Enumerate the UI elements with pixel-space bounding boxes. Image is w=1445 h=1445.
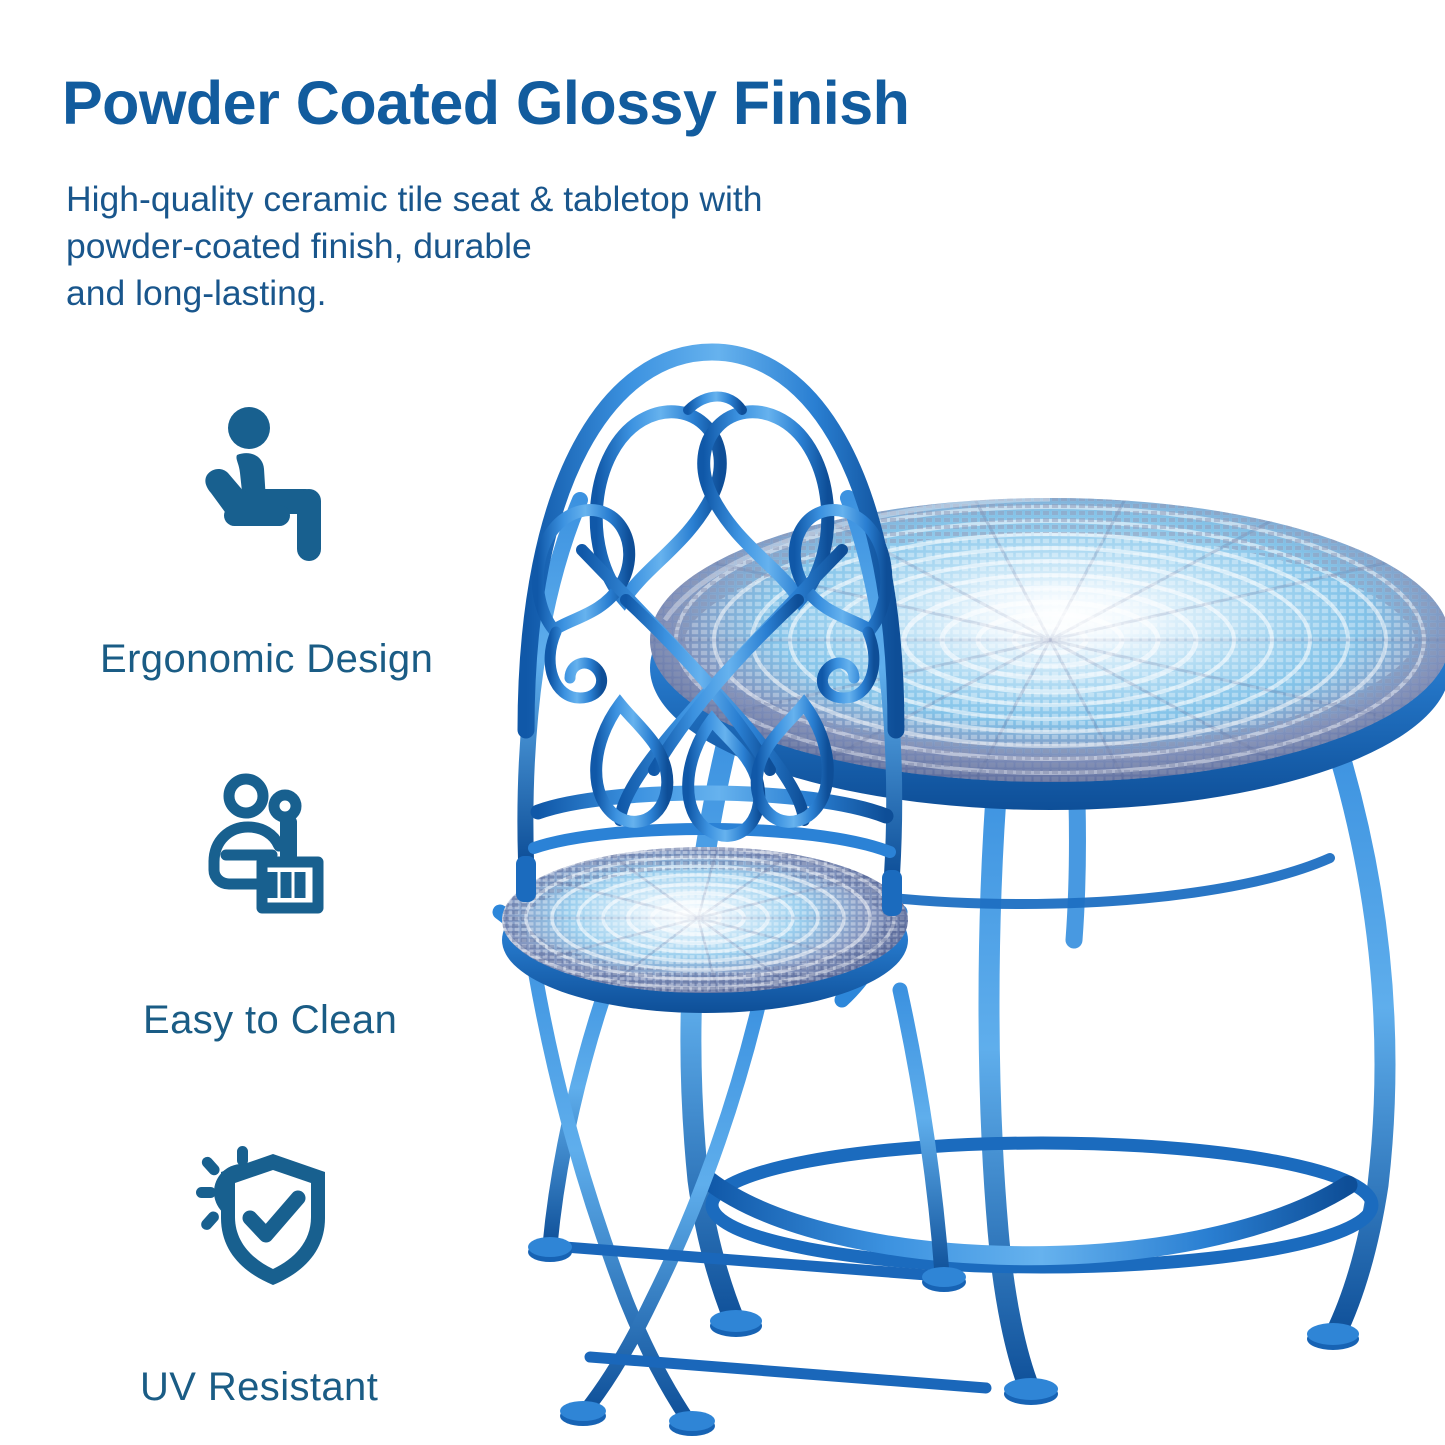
table-foot <box>710 1310 1359 1405</box>
product-image-bistro-set <box>430 300 1445 1445</box>
feature-label: Easy to Clean <box>143 998 397 1043</box>
feature-label: Ergonomic Design <box>100 637 433 682</box>
person-cleaning-brush-icon <box>200 770 360 930</box>
sun-shield-check-icon <box>180 1140 340 1300</box>
feature-label: UV Resistant <box>140 1365 378 1410</box>
page-title: Powder Coated Glossy Finish <box>62 68 909 138</box>
seated-person-icon <box>185 405 345 565</box>
description-text: High-quality ceramic tile seat & tableto… <box>66 176 763 317</box>
infographic-canvas: Powder Coated Glossy Finish High-quality… <box>0 0 1445 1445</box>
